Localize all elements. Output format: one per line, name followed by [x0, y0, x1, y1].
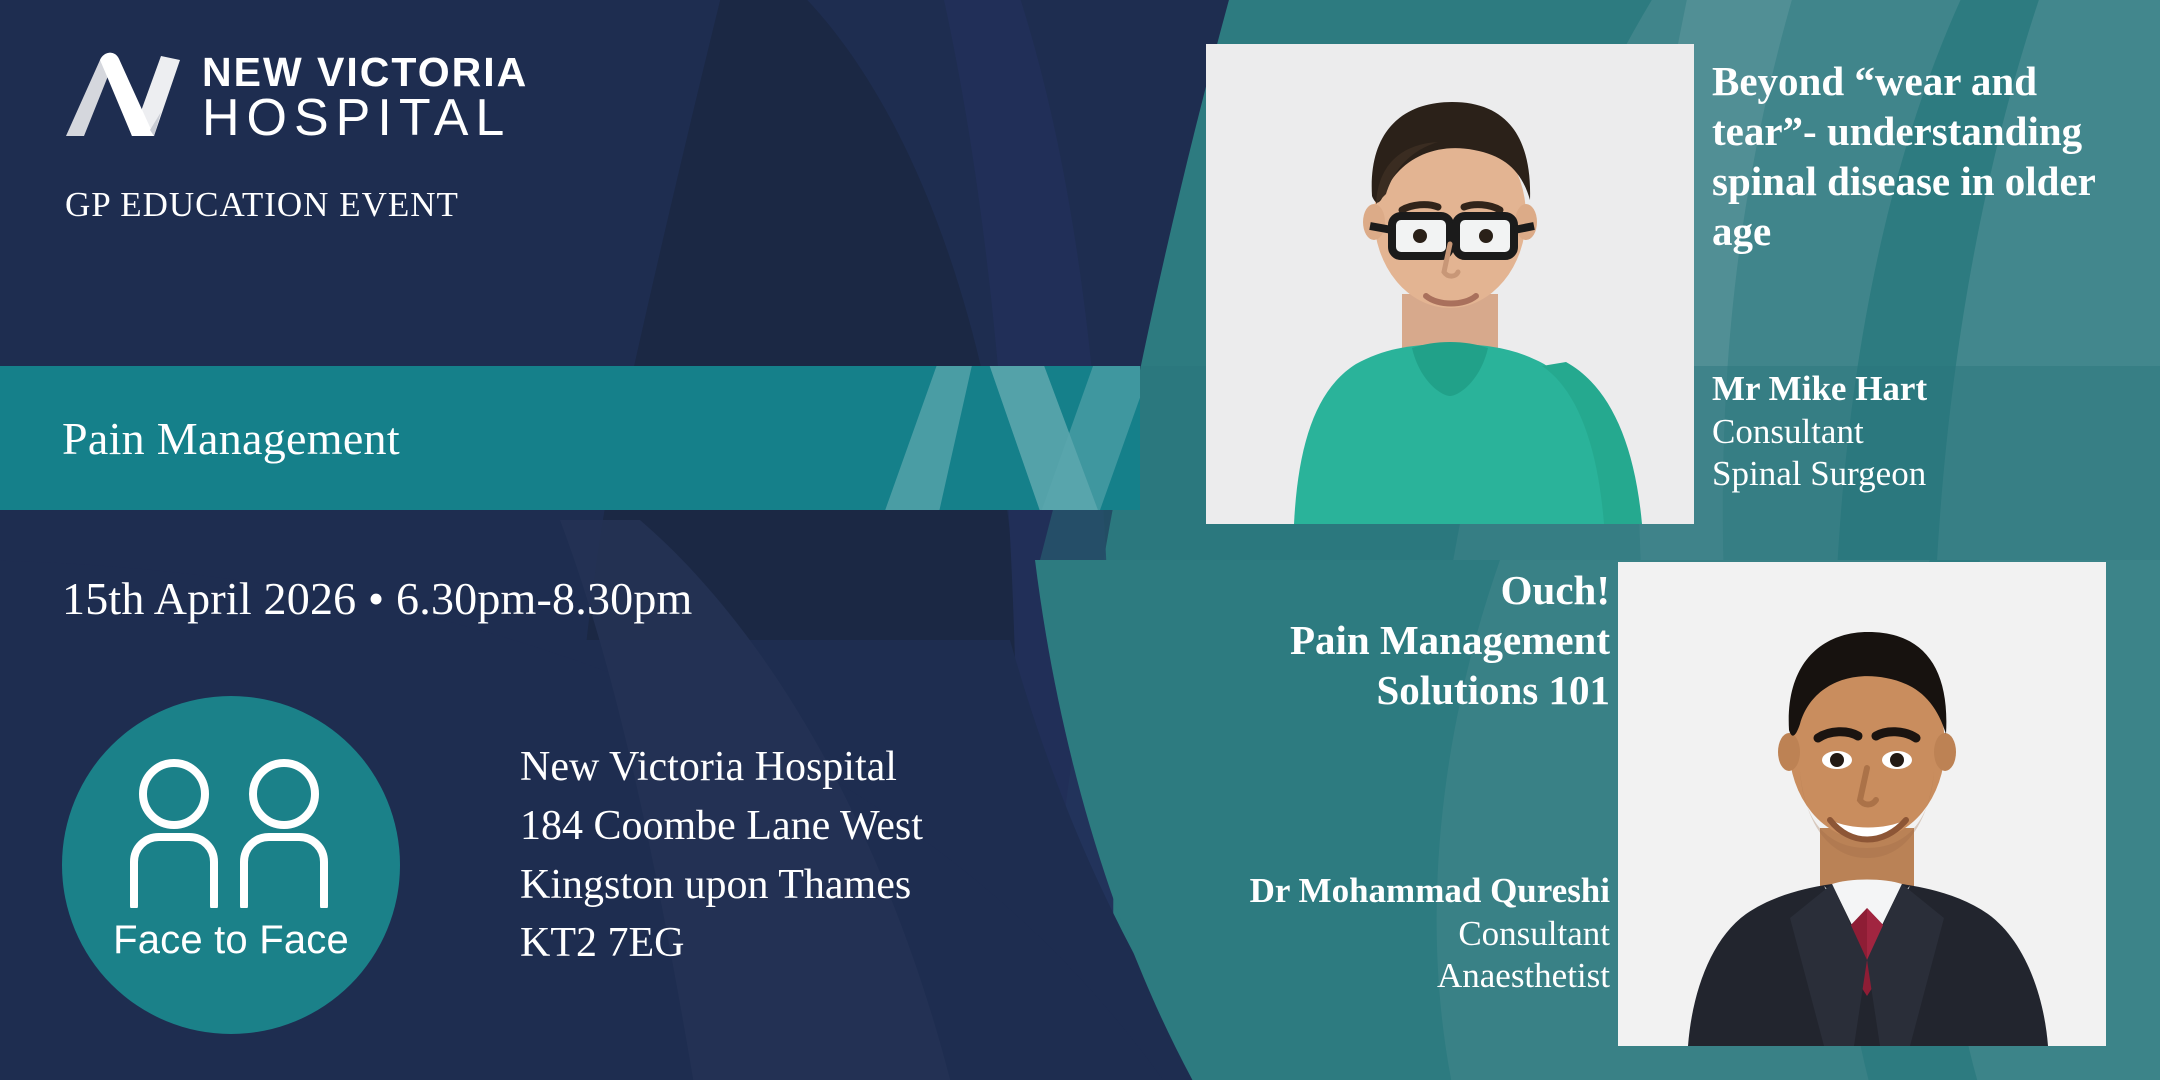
speaker-2-portrait-icon	[1618, 562, 2106, 1046]
speaker-2-role-line-2: Anaesthetist	[1080, 955, 1610, 998]
topic-title: Pain Management	[62, 366, 400, 510]
venue-line-4: KT2 7EG	[520, 914, 923, 973]
venue-line-3: Kingston upon Thames	[520, 856, 923, 915]
new-victoria-n-mark-icon	[62, 48, 184, 140]
event-kicker: GP EDUCATION EVENT	[65, 185, 532, 225]
speaker-2-name-block: Dr Mohammad Qureshi Consultant Anaesthet…	[1080, 870, 1610, 998]
venue-line-2: 184 Coombe Lane West	[520, 797, 923, 856]
speaker-1-name-block: Mr Mike Hart Consultant Spinal Surgeon	[1712, 368, 2142, 496]
venue-line-1: New Victoria Hospital	[520, 738, 923, 797]
speaker-1-photo	[1206, 44, 1694, 524]
speaker-2-talk-title-block: Ouch! Pain Management Solutions 101	[1140, 565, 1610, 715]
brand-name-line1: NEW VICTORIA	[202, 52, 528, 92]
speaker-1-role-line-2: Spinal Surgeon	[1712, 453, 2142, 496]
speaker-2-name: Dr Mohammad Qureshi	[1080, 870, 1610, 913]
speaker-1-name: Mr Mike Hart	[1712, 368, 2142, 411]
event-poster: Pain Management NEW VICTORIA HOSPITAL GP…	[0, 0, 2160, 1080]
format-badge-label: Face to Face	[62, 918, 400, 963]
venue-address: New Victoria Hospital 184 Coombe Lane We…	[520, 738, 923, 973]
speaker-2-talk-title-line-3: Solutions 101	[1140, 665, 1610, 715]
brand-logo-block: NEW VICTORIA HOSPITAL GP EDUCATION EVENT	[62, 48, 532, 225]
speaker-1-role-line-1: Consultant	[1712, 411, 2142, 454]
speaker-2-talk-title-line-1: Ouch!	[1140, 565, 1610, 615]
event-date-time: 15th April 2026 • 6.30pm-8.30pm	[62, 572, 693, 625]
format-badge: Face to Face	[62, 696, 400, 1034]
speaker-1-talk-title-block: Beyond “wear and tear”- understanding sp…	[1712, 56, 2132, 256]
brand-name-line2: HOSPITAL	[202, 92, 528, 145]
speaker-1-portrait-icon	[1206, 44, 1694, 524]
two-people-icon	[118, 758, 344, 908]
speaker-2-photo	[1618, 562, 2106, 1046]
speaker-2-role-line-1: Consultant	[1080, 913, 1610, 956]
speaker-1-talk-title: Beyond “wear and tear”- understanding sp…	[1712, 56, 2132, 256]
speaker-2-talk-title-line-2: Pain Management	[1140, 615, 1610, 665]
